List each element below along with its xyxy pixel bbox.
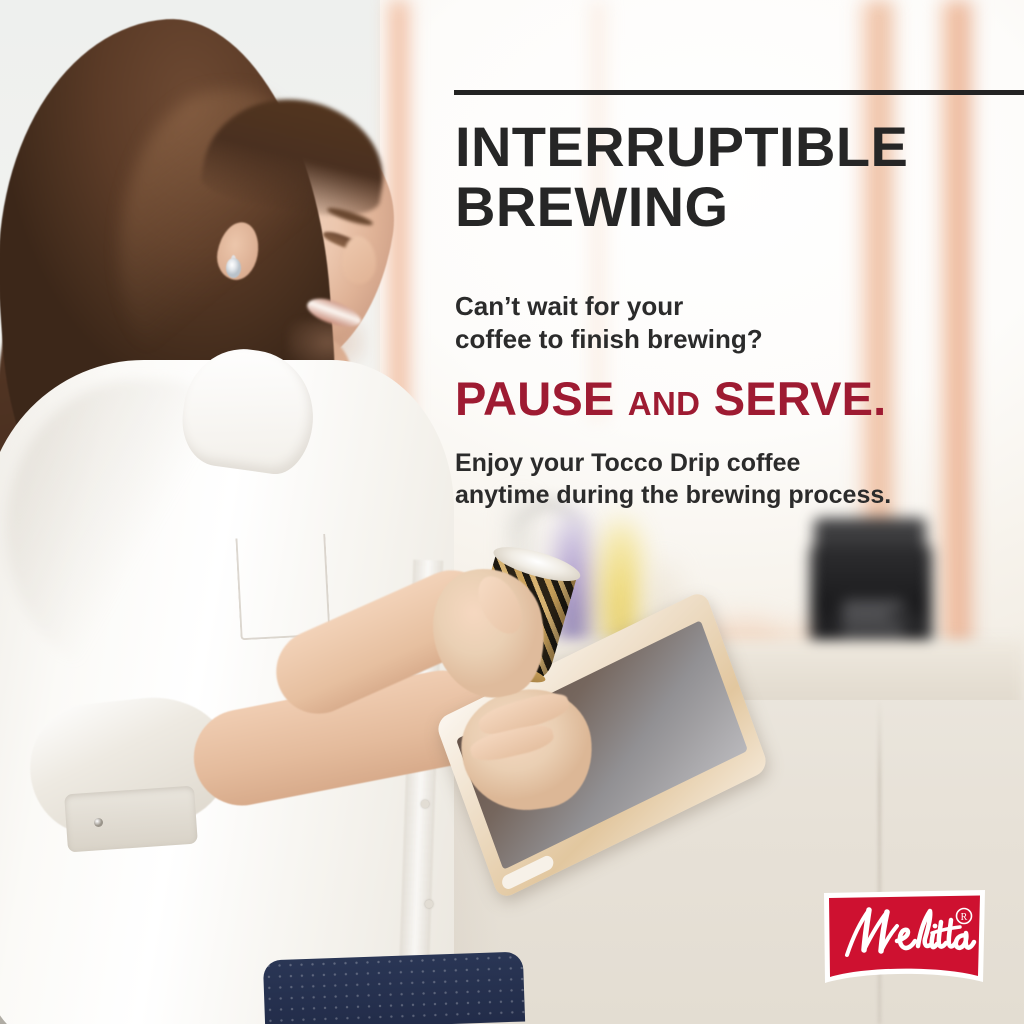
cuff-stud [94, 818, 103, 827]
slogan-part-pause: PAUSE [455, 372, 614, 425]
shirt-button [421, 800, 429, 808]
tagline-line-2: anytime during the brewing process. [455, 479, 992, 511]
tagline: Enjoy your Tocco Drip coffee anytime dur… [455, 447, 992, 511]
jeans-pattern [263, 951, 525, 1024]
slogan-part-serve: SERVE. [714, 372, 887, 425]
slogan: PAUSE AND SERVE. [455, 373, 992, 425]
earring [226, 258, 241, 278]
shirt-button [425, 900, 433, 908]
jeans [263, 951, 525, 1024]
headline-rule [454, 90, 1024, 95]
tagline-line-1: Enjoy your Tocco Drip coffee [455, 447, 992, 479]
shirt-pocket [235, 534, 330, 641]
headline-line-1: INTERRUPTIBLE [455, 117, 992, 177]
subcopy-line-1: Can’t wait for your [455, 290, 992, 323]
copy-block: INTERRUPTIBLE BREWING Can’t wait for you… [452, 90, 992, 511]
melitta-logo-svg: R [823, 889, 986, 986]
advertisement-canvas: INTERRUPTIBLE BREWING Can’t wait for you… [0, 0, 1024, 1024]
woman-portrait [0, 0, 510, 1024]
slogan-part-and: AND [628, 385, 701, 422]
headline-line-2: BREWING [455, 177, 992, 237]
subcopy: Can’t wait for your coffee to finish bre… [455, 290, 992, 356]
melitta-logo: R [823, 889, 986, 986]
shirt-cuff [64, 786, 198, 853]
page-title: INTERRUPTIBLE BREWING [452, 117, 992, 238]
subcopy-line-2: coffee to finish brewing? [455, 323, 992, 356]
svg-text:R: R [961, 912, 968, 923]
